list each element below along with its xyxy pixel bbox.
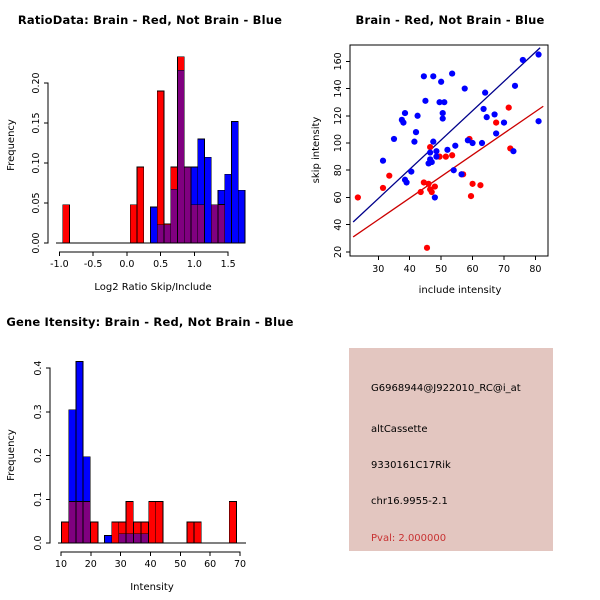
- intensity-scatter-title: Brain - Red, Not Brain - Blue: [356, 13, 545, 27]
- scatter-point: [432, 183, 438, 189]
- histogram-bar: [112, 522, 119, 543]
- regression-line: [353, 48, 540, 222]
- histogram-bar: [178, 70, 185, 243]
- histogram-bar: [76, 362, 83, 502]
- scatter-point: [432, 194, 438, 200]
- gene-info-panel: G6968944@J922010_RC@i_at altCassette 933…: [300, 300, 600, 600]
- x-tick-label: 0.0: [119, 259, 134, 270]
- y-tick-label: 160: [333, 52, 344, 70]
- y-tick-label: 0.0: [33, 535, 44, 550]
- x-tick-label: 1.0: [187, 259, 202, 270]
- y-tick-label: 0.20: [31, 72, 42, 93]
- x-tick-label: -1.0: [50, 259, 69, 270]
- histogram-bar: [164, 225, 171, 243]
- scatter-point: [477, 182, 483, 188]
- histogram-bar: [91, 522, 98, 543]
- scatter-point: [391, 136, 397, 142]
- x-tick-label: 70: [234, 559, 246, 570]
- scatter-point: [403, 179, 409, 185]
- histogram-bar: [198, 139, 205, 205]
- scatter-point: [441, 99, 447, 105]
- y-tick-label: 100: [333, 134, 344, 152]
- histogram-bar: [191, 205, 198, 243]
- gene-intensity-histogram-svg: Gene Itensity: Brain - Red, Not Brain - …: [0, 300, 300, 600]
- y-tick-label: 0.15: [31, 112, 42, 133]
- info-probe-id: G6968944@J922010_RC@i_at: [371, 383, 521, 394]
- x-tick-label: 30: [372, 264, 384, 275]
- scatter-point: [380, 158, 386, 164]
- scatter-point: [380, 185, 386, 191]
- scatter-point: [429, 159, 435, 165]
- x-tick-label: -0.5: [84, 259, 103, 270]
- histogram-bar: [105, 536, 112, 543]
- histogram-bar: [63, 205, 70, 243]
- ratio-histogram-ylabel: Frequency: [6, 119, 17, 171]
- scatter-point: [355, 194, 361, 200]
- analysis-panel-page: RatioData: Brain - Red, Not Brain - Blue…: [0, 0, 600, 600]
- y-tick-label: 40: [333, 219, 344, 231]
- scatter-point: [427, 149, 433, 155]
- info-pval: Pval: 2.000000: [371, 533, 446, 544]
- scatter-point: [411, 139, 417, 145]
- x-tick-label: 0.5: [153, 259, 168, 270]
- intensity-scatter-points: [355, 51, 542, 251]
- y-tick-label: 80: [333, 164, 344, 176]
- scatter-point: [484, 114, 490, 120]
- gene-intensity-histogram-title: Gene Itensity: Brain - Red, Not Brain - …: [6, 315, 293, 329]
- x-tick-label: 40: [144, 559, 156, 570]
- histogram-bar: [194, 522, 201, 543]
- y-tick-label: 0.2: [33, 448, 44, 463]
- histogram-bar: [126, 534, 133, 543]
- histogram-bar: [198, 205, 205, 243]
- y-tick-label: 0.10: [31, 152, 42, 173]
- x-tick-label: 1.5: [221, 259, 236, 270]
- histogram-bar: [137, 167, 144, 243]
- y-tick-label: 0.05: [31, 192, 42, 213]
- scatter-point: [449, 70, 455, 76]
- scatter-point: [482, 90, 488, 96]
- histogram-bar: [238, 190, 245, 243]
- info-locus: chr16.9955-2.1: [371, 496, 448, 507]
- y-tick-label: 0.4: [33, 361, 44, 376]
- scatter-point: [422, 98, 428, 104]
- scatter-point: [421, 73, 427, 79]
- scatter-point: [386, 173, 392, 179]
- scatter-point: [430, 139, 436, 145]
- histogram-bar: [205, 157, 212, 243]
- y-tick-label: 60: [333, 191, 344, 203]
- scatter-point: [451, 167, 457, 173]
- x-tick-label: 60: [467, 264, 479, 275]
- histogram-bar: [211, 205, 218, 243]
- y-tick-label: 120: [333, 107, 344, 125]
- x-tick-label: 80: [529, 264, 541, 275]
- scatter-point: [430, 73, 436, 79]
- histogram-bar: [83, 501, 90, 543]
- histogram-bar: [232, 121, 239, 243]
- histogram-bar: [178, 57, 185, 71]
- histogram-bar: [119, 522, 126, 534]
- histogram-bar: [141, 522, 148, 534]
- histogram-bar: [229, 501, 236, 543]
- intensity-scatter-ylabel: skip intensity: [311, 117, 322, 184]
- scatter-point: [462, 85, 468, 91]
- ratio-histogram-bars: [63, 57, 245, 243]
- intensity-scatter-axes: 30405060708020406080100120140160: [333, 52, 541, 275]
- histogram-bar: [76, 501, 83, 543]
- scatter-point: [493, 130, 499, 136]
- x-axis-line: [59, 252, 228, 256]
- histogram-bar: [134, 534, 141, 543]
- y-tick-label: 0.1: [33, 492, 44, 507]
- histogram-bar: [156, 501, 163, 543]
- scatter-point: [479, 140, 485, 146]
- x-tick-label: 30: [115, 559, 127, 570]
- scatter-point: [438, 79, 444, 85]
- ratio-histogram-svg: RatioData: Brain - Red, Not Brain - Blue…: [0, 0, 300, 300]
- scatter-point: [413, 129, 419, 135]
- y-tick-label: 140: [333, 79, 344, 97]
- histogram-bar: [149, 501, 156, 543]
- info-gene-symbol: 9330161C17Rik: [371, 460, 451, 471]
- intensity-scatter-fit-lines: [353, 48, 543, 237]
- scatter-point: [433, 154, 439, 160]
- scatter-point: [510, 148, 516, 154]
- scatter-point: [469, 181, 475, 187]
- scatter-point: [424, 245, 430, 251]
- histogram-bar: [225, 174, 232, 243]
- histogram-bar: [218, 205, 225, 243]
- y-tick-label: 20: [333, 246, 344, 258]
- scatter-point: [414, 113, 420, 119]
- scatter-point: [452, 143, 458, 149]
- y-tick-label: 0.00: [31, 232, 42, 253]
- histogram-bar: [83, 457, 90, 502]
- scatter-point: [400, 119, 406, 125]
- scatter-point: [402, 110, 408, 116]
- scatter-point: [468, 193, 474, 199]
- scatter-point: [491, 111, 497, 117]
- histogram-bar: [151, 207, 158, 243]
- scatter-point: [458, 171, 464, 177]
- scatter-point: [501, 119, 507, 125]
- x-tick-label: 50: [435, 264, 447, 275]
- histogram-bar: [171, 167, 178, 189]
- x-tick-label: 10: [55, 559, 67, 570]
- x-tick-label: 50: [174, 559, 186, 570]
- scatter-point: [443, 154, 449, 160]
- histogram-bar: [191, 167, 198, 205]
- histogram-bar: [157, 91, 164, 225]
- scatter-point: [440, 110, 446, 116]
- gene-intensity-histogram-xlabel: Intensity: [130, 582, 174, 593]
- x-tick-label: 20: [85, 559, 97, 570]
- scatter-point: [440, 115, 446, 121]
- scatter-point: [444, 147, 450, 153]
- histogram-bar: [187, 522, 194, 543]
- ratio-histogram-panel: RatioData: Brain - Red, Not Brain - Blue…: [0, 0, 300, 300]
- gene-intensity-histogram-panel: Gene Itensity: Brain - Red, Not Brain - …: [0, 300, 300, 600]
- scatter-point: [512, 83, 518, 89]
- histogram-bar: [69, 410, 76, 502]
- scatter-point: [506, 105, 512, 111]
- intensity-scatter-svg: Brain - Red, Not Brain - Blue 3040506070…: [300, 0, 600, 300]
- gene-intensity-histogram-ylabel: Frequency: [6, 429, 17, 481]
- x-tick-label: 40: [404, 264, 416, 275]
- histogram-bar: [119, 534, 126, 543]
- histogram-bar: [184, 167, 191, 243]
- histogram-bar: [126, 501, 133, 533]
- histogram-bar: [218, 190, 225, 204]
- scatter-point: [418, 189, 424, 195]
- histogram-bar: [62, 522, 69, 543]
- scatter-point: [408, 169, 414, 175]
- intensity-scatter-xlabel: include intensity: [419, 285, 502, 296]
- scatter-point: [449, 152, 455, 158]
- histogram-bar: [130, 205, 137, 243]
- scatter-point: [427, 144, 433, 150]
- ratio-histogram-title: RatioData: Brain - Red, Not Brain - Blue: [18, 13, 282, 27]
- histogram-bar: [134, 522, 141, 534]
- histogram-bar: [69, 501, 76, 543]
- regression-line: [353, 106, 543, 237]
- scatter-point: [535, 118, 541, 124]
- histogram-bar: [141, 534, 148, 543]
- intensity-scatter-panel: Brain - Red, Not Brain - Blue 3040506070…: [300, 0, 600, 300]
- scatter-point: [469, 140, 475, 146]
- scatter-point: [433, 148, 439, 154]
- scatter-point: [520, 57, 526, 63]
- scatter-point: [425, 181, 431, 187]
- histogram-bar: [171, 189, 178, 243]
- info-event-type: altCassette: [371, 424, 428, 435]
- ratio-histogram-xlabel: Log2 Ratio Skip/Include: [94, 282, 211, 293]
- scatter-point: [493, 119, 499, 125]
- gene-intensity-histogram-bars: [62, 362, 237, 543]
- gene-info-card: G6968944@J922010_RC@i_at altCassette 933…: [349, 348, 553, 551]
- y-tick-label: 0.3: [33, 404, 44, 419]
- x-tick-label: 70: [498, 264, 510, 275]
- scatter-point: [535, 51, 541, 57]
- scatter-point: [480, 106, 486, 112]
- x-tick-label: 60: [204, 559, 216, 570]
- scatter-point: [429, 189, 435, 195]
- histogram-bar: [157, 225, 164, 243]
